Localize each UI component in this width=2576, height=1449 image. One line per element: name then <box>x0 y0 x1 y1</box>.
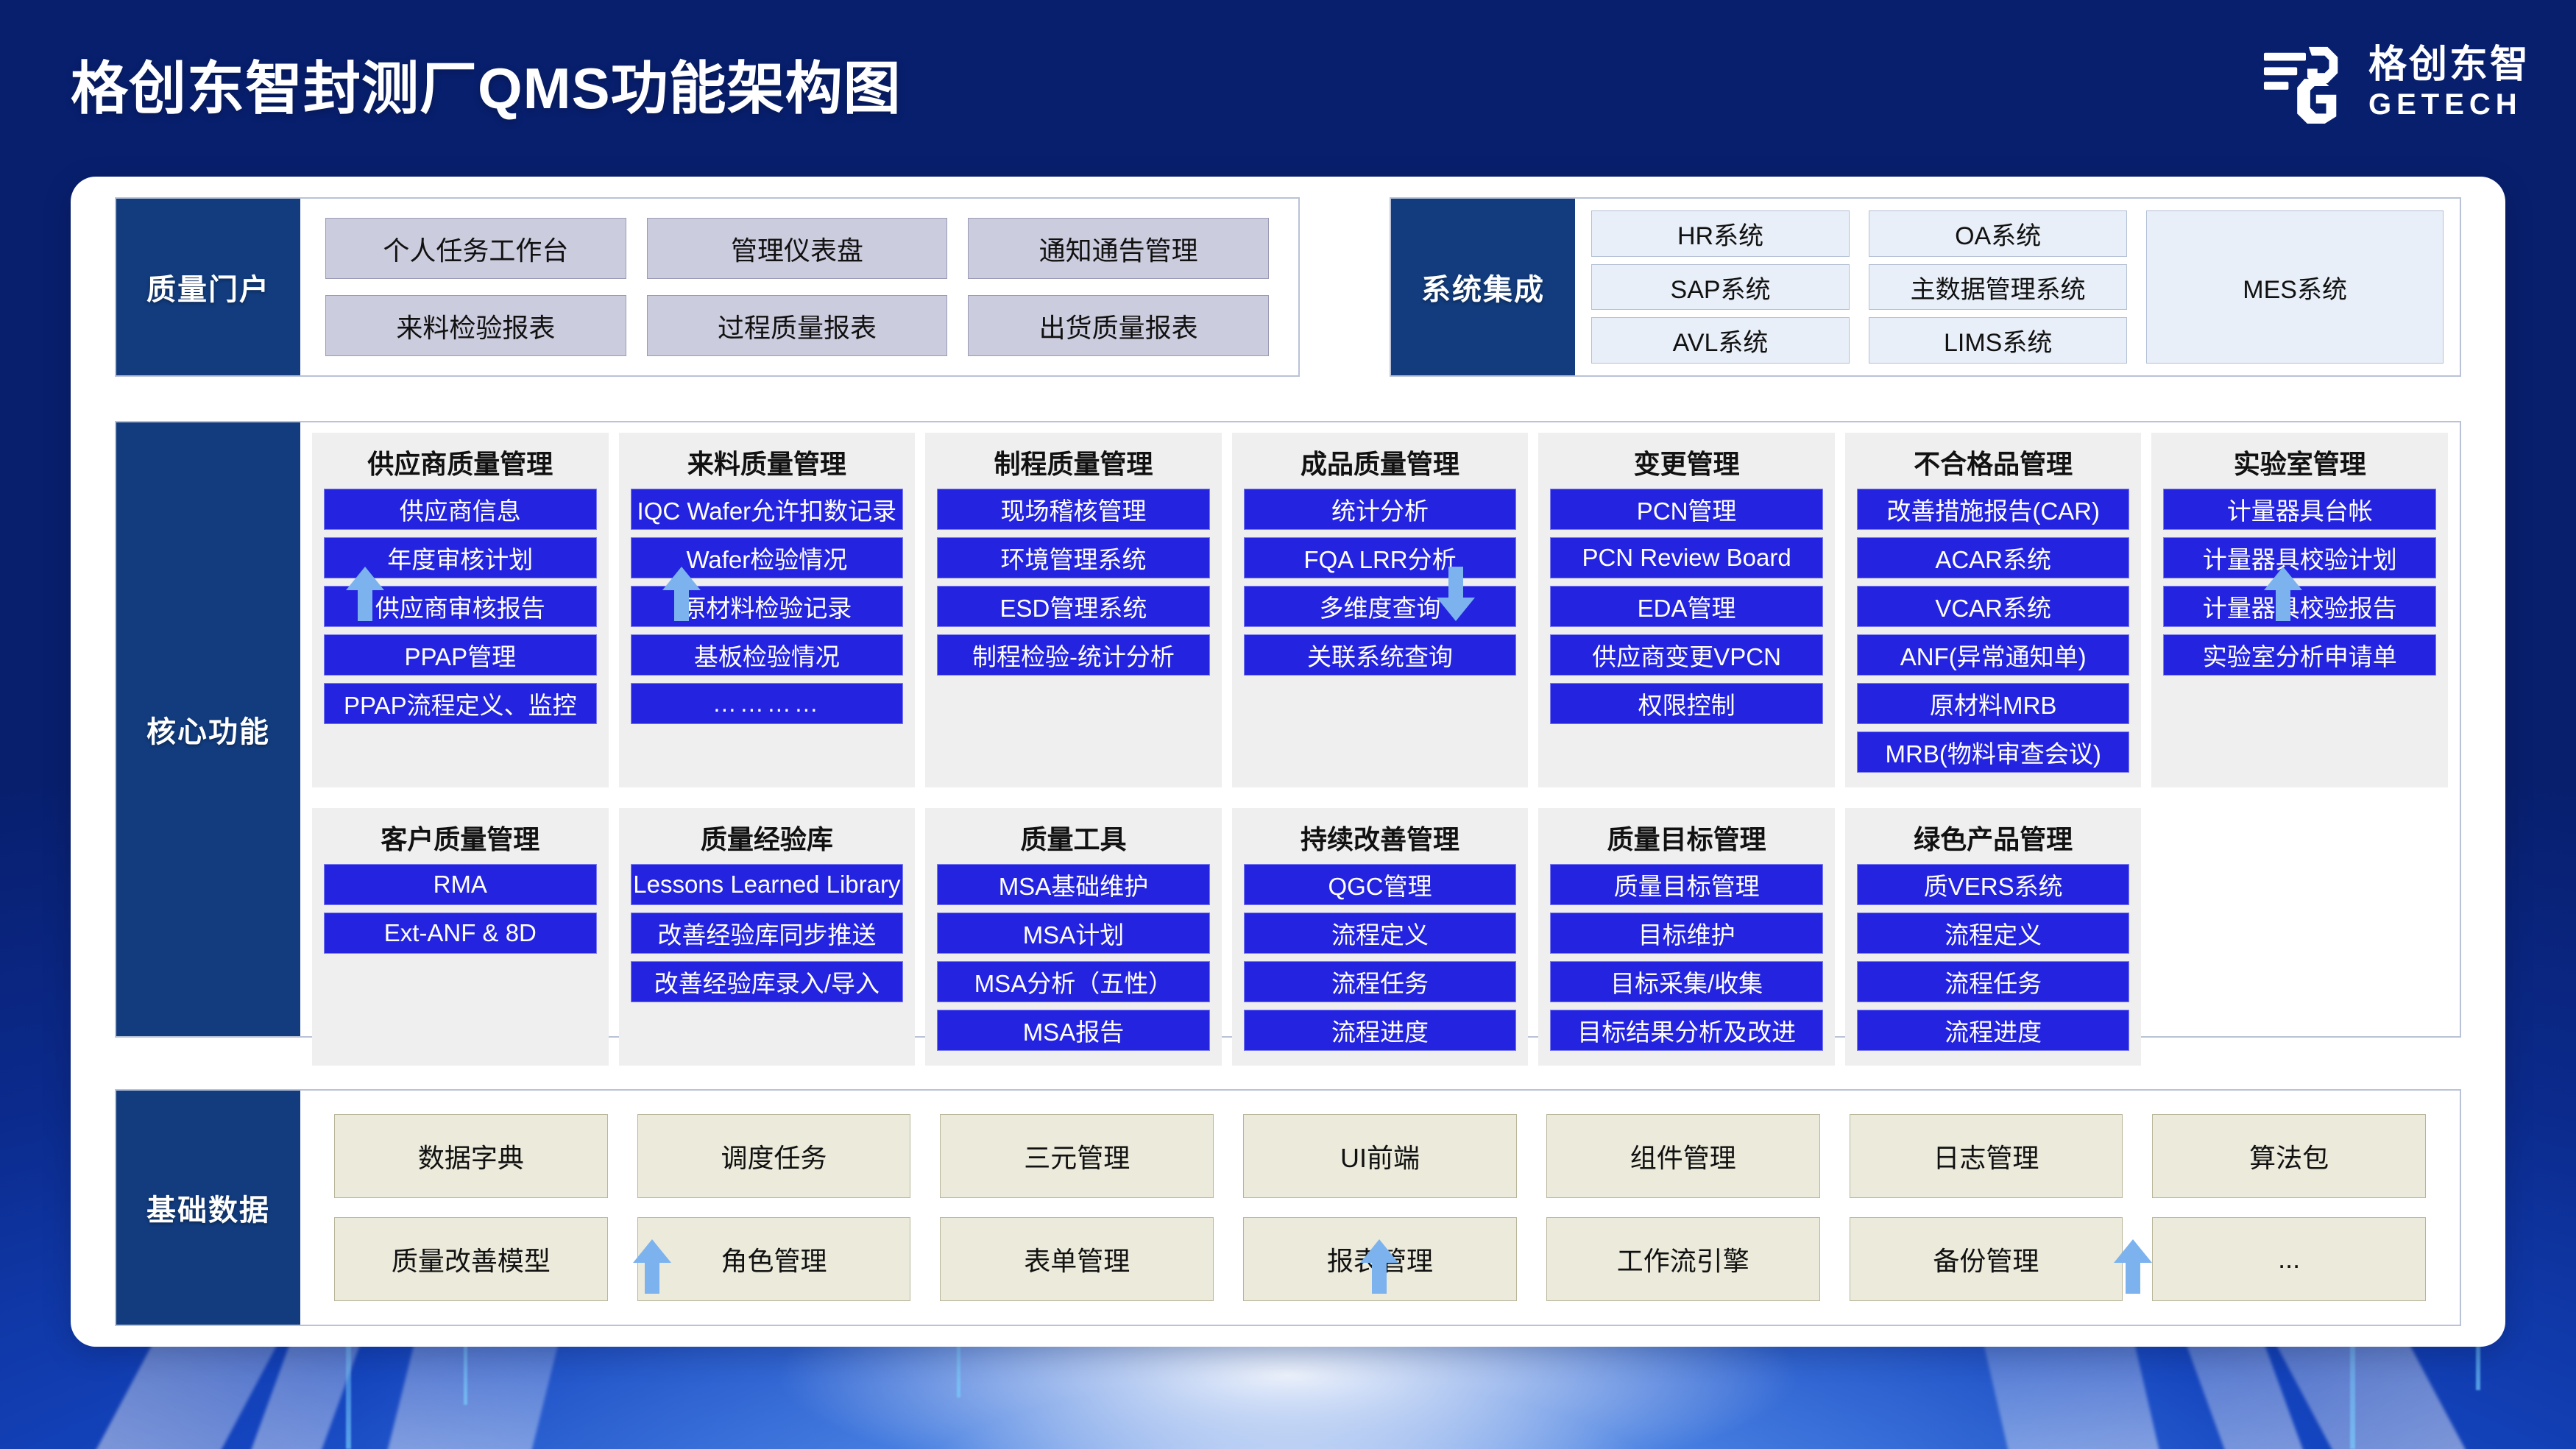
core-item[interactable]: 关联系统查询 <box>1244 634 1517 676</box>
core-item[interactable]: 供应商信息 <box>324 489 597 530</box>
section-label-core-functions: 核心功能 <box>116 422 300 1036</box>
core-item[interactable]: 流程进度 <box>1857 1010 2130 1051</box>
core-column-title: 变更管理 <box>1550 443 1823 481</box>
core-column-spacer <box>2151 808 2448 1066</box>
sys-chip[interactable]: LIMS系统 <box>1869 317 2127 364</box>
core-column: 变更管理PCN管理PCN Review BoardEDA管理供应商变更VPCN权… <box>1538 433 1835 787</box>
core-functions-row-2: 客户质量管理RMAExt-ANF & 8D质量经验库Lessons Learne… <box>312 808 2448 1066</box>
arrow-base-2-up-icon <box>1359 1238 1400 1295</box>
system-integration-column-mes: MES系统 <box>2146 210 2444 364</box>
core-item[interactable]: 质VERS系统 <box>1857 864 2130 905</box>
core-column-title: 来料质量管理 <box>631 443 904 481</box>
core-column-title: 供应商质量管理 <box>324 443 597 481</box>
portal-chip[interactable]: 个人任务工作台 <box>325 218 626 279</box>
section-label-system-integration: 系统集成 <box>1391 199 1575 375</box>
core-item[interactable]: 实验室分析申请单 <box>2163 634 2436 676</box>
core-column-title: 客户质量管理 <box>324 818 597 857</box>
base-data-chip[interactable]: 数据字典 <box>334 1114 608 1198</box>
quality-portal-grid: 个人任务工作台管理仪表盘通知通告管理来料检验报表过程质量报表出货质量报表 <box>300 199 1298 375</box>
core-column-title: 成品质量管理 <box>1244 443 1517 481</box>
core-item[interactable]: 流程定义 <box>1857 913 2130 954</box>
core-item[interactable]: VCAR系统 <box>1857 586 2130 627</box>
arrow-sys-down-icon <box>1435 565 1476 623</box>
base-data-chip[interactable]: 组件管理 <box>1546 1114 1820 1198</box>
core-column: 质量经验库Lessons Learned Library改善经验库同步推送改善经… <box>619 808 916 1066</box>
section-core-functions: 核心功能 供应商质量管理供应商信息年度审核计划供应商审核报告PPAP管理PPAP… <box>115 421 2461 1038</box>
core-item[interactable]: MSA报告 <box>937 1010 1210 1051</box>
core-item[interactable]: 供应商变更VPCN <box>1550 634 1823 676</box>
section-base-data: 基础数据 数据字典调度任务三元管理UI前端组件管理日志管理算法包质量改善模型角色… <box>115 1089 2461 1326</box>
architecture-card: 质量门户 个人任务工作台管理仪表盘通知通告管理来料检验报表过程质量报表出货质量报… <box>71 177 2505 1347</box>
arrow-portal-left-up-icon <box>344 565 386 623</box>
core-item[interactable]: 环境管理系统 <box>937 537 1210 578</box>
brand-logo: 格创东智 GETECH <box>2262 41 2530 124</box>
portal-chip[interactable]: 来料检验报表 <box>325 295 626 356</box>
section-label-quality-portal: 质量门户 <box>116 199 300 375</box>
arrow-mes-up-icon <box>2262 565 2304 623</box>
base-data-chip[interactable]: 三元管理 <box>940 1114 1214 1198</box>
brand-text: 格创东智 GETECH <box>2368 46 2530 119</box>
core-item[interactable]: ESD管理系统 <box>937 586 1210 627</box>
core-item[interactable]: Lessons Learned Library <box>631 864 904 905</box>
core-item[interactable]: PCN管理 <box>1550 489 1823 530</box>
base-data-chip[interactable]: 工作流引擎 <box>1546 1217 1820 1301</box>
sys-chip[interactable]: OA系统 <box>1869 210 2127 257</box>
core-functions-body: 供应商质量管理供应商信息年度审核计划供应商审核报告PPAP管理PPAP流程定义、… <box>300 422 2460 1036</box>
arrow-base-1-up-icon <box>631 1238 673 1295</box>
brand-name-cn: 格创东智 <box>2368 46 2530 84</box>
base-data-chip[interactable]: 备份管理 <box>1850 1217 2123 1301</box>
core-item[interactable]: 计量器具台帐 <box>2163 489 2436 530</box>
sys-chip-mes[interactable]: MES系统 <box>2146 210 2444 364</box>
core-item[interactable]: 原材料MRB <box>1857 683 2130 724</box>
core-column: 客户质量管理RMAExt-ANF & 8D <box>312 808 609 1066</box>
system-integration-body: HR系统SAP系统AVL系统 OA系统主数据管理系统LIMS系统 MES系统 <box>1575 199 2460 375</box>
core-item[interactable]: 质量目标管理 <box>1550 864 1823 905</box>
core-column: 持续改善管理QGC管理流程定义流程任务流程进度 <box>1232 808 1529 1066</box>
system-integration-column-1: HR系统SAP系统AVL系统 <box>1591 210 1850 364</box>
portal-chip[interactable]: 过程质量报表 <box>647 295 948 356</box>
core-item[interactable]: ACAR系统 <box>1857 537 2130 578</box>
core-item[interactable]: 改善经验库同步推送 <box>631 913 904 954</box>
core-item[interactable]: IQC Wafer允许扣数记录 <box>631 489 904 530</box>
core-column: 绿色产品管理质VERS系统流程定义流程任务流程进度 <box>1845 808 2142 1066</box>
core-column-title: 持续改善管理 <box>1244 818 1517 857</box>
core-item[interactable]: RMA <box>324 864 597 905</box>
core-item[interactable]: 目标结果分析及改进 <box>1550 1010 1823 1051</box>
core-item[interactable]: ANF(异常通知单) <box>1857 634 2130 676</box>
core-item[interactable]: 目标维护 <box>1550 913 1823 954</box>
core-column: 成品质量管理统计分析FQA LRR分析多维度查询关联系统查询 <box>1232 433 1529 787</box>
core-column-title: 质量目标管理 <box>1550 818 1823 857</box>
core-item[interactable]: 统计分析 <box>1244 489 1517 530</box>
section-system-integration: 系统集成 HR系统SAP系统AVL系统 OA系统主数据管理系统LIMS系统 ME… <box>1390 197 2461 377</box>
core-item[interactable]: EDA管理 <box>1550 586 1823 627</box>
core-column-title: 不合格品管理 <box>1857 443 2130 481</box>
portal-chip[interactable]: 通知通告管理 <box>968 218 1269 279</box>
core-item[interactable]: 现场稽核管理 <box>937 489 1210 530</box>
base-data-chip[interactable]: UI前端 <box>1243 1114 1517 1198</box>
base-data-chip[interactable]: ... <box>2152 1217 2426 1301</box>
quality-portal-body: 个人任务工作台管理仪表盘通知通告管理来料检验报表过程质量报表出货质量报表 <box>300 199 1298 375</box>
arrow-portal-right-up-icon <box>661 565 702 623</box>
core-column-title: 制程质量管理 <box>937 443 1210 481</box>
core-column: 质量工具MSA基础维护MSA计划MSA分析（五性）MSA报告 <box>925 808 1222 1066</box>
base-data-chip[interactable]: 表单管理 <box>940 1217 1214 1301</box>
core-item[interactable]: 制程检验-统计分析 <box>937 634 1210 676</box>
core-item[interactable]: 流程定义 <box>1244 913 1517 954</box>
base-data-chip[interactable]: 调度任务 <box>637 1114 911 1198</box>
core-item[interactable]: PPAP流程定义、监控 <box>324 683 597 724</box>
core-item[interactable]: 流程进度 <box>1244 1010 1517 1051</box>
core-item[interactable]: 改善措施报告(CAR) <box>1857 489 2130 530</box>
core-item[interactable]: 改善经验库录入/导入 <box>631 961 904 1002</box>
core-item[interactable]: 流程任务 <box>1857 961 2130 1002</box>
section-label-base-data: 基础数据 <box>116 1091 300 1325</box>
sys-chip[interactable]: SAP系统 <box>1591 264 1850 311</box>
base-data-chip[interactable]: 质量改善模型 <box>334 1217 608 1301</box>
section-quality-portal: 质量门户 个人任务工作台管理仪表盘通知通告管理来料检验报表过程质量报表出货质量报… <box>115 197 1300 377</box>
base-data-chip[interactable]: 角色管理 <box>637 1217 911 1301</box>
core-column: 制程质量管理现场稽核管理环境管理系统ESD管理系统制程检验-统计分析 <box>925 433 1222 787</box>
portal-chip[interactable]: 管理仪表盘 <box>647 218 948 279</box>
page-header: 格创东智封测厂QMS功能架构图 格创东智 GETECH <box>0 0 2576 177</box>
core-item[interactable]: QGC管理 <box>1244 864 1517 905</box>
sys-chip[interactable]: 主数据管理系统 <box>1869 264 2127 311</box>
core-column: 不合格品管理改善措施报告(CAR)ACAR系统VCAR系统ANF(异常通知单)原… <box>1845 433 2142 787</box>
core-item[interactable]: 目标采集/收集 <box>1550 961 1823 1002</box>
core-item[interactable]: MSA分析（五性） <box>937 961 1210 1002</box>
core-column-title: 质量经验库 <box>631 818 904 857</box>
core-column-title: 绿色产品管理 <box>1857 818 2130 857</box>
core-column: 质量目标管理质量目标管理目标维护目标采集/收集目标结果分析及改进 <box>1538 808 1835 1066</box>
core-functions-row-1: 供应商质量管理供应商信息年度审核计划供应商审核报告PPAP管理PPAP流程定义、… <box>312 433 2448 787</box>
system-integration-column-2: OA系统主数据管理系统LIMS系统 <box>1869 210 2127 364</box>
brand-name-en: GETECH <box>2368 90 2530 119</box>
page-title: 格创东智封测厂QMS功能架构图 <box>71 43 902 125</box>
sys-chip[interactable]: AVL系统 <box>1591 317 1850 364</box>
core-item[interactable]: 权限控制 <box>1550 683 1823 724</box>
getech-hex-g-logo-icon <box>2262 41 2349 124</box>
core-item[interactable]: ………… <box>631 683 904 724</box>
base-data-chip[interactable]: 算法包 <box>2152 1114 2426 1198</box>
portal-chip[interactable]: 出货质量报表 <box>968 295 1269 356</box>
core-item[interactable]: PCN Review Board <box>1550 537 1823 578</box>
core-item[interactable]: MRB(物料审查会议) <box>1857 731 2130 773</box>
core-item[interactable]: MSA计划 <box>937 913 1210 954</box>
core-item[interactable]: PPAP管理 <box>324 634 597 676</box>
core-item[interactable]: 基板检验情况 <box>631 634 904 676</box>
core-column-title: 质量工具 <box>937 818 1210 857</box>
core-item[interactable]: 流程任务 <box>1244 961 1517 1002</box>
core-item[interactable]: MSA基础维护 <box>937 864 1210 905</box>
core-column-title: 实验室管理 <box>2163 443 2436 481</box>
base-data-chip[interactable]: 日志管理 <box>1850 1114 2123 1198</box>
core-item[interactable]: Ext-ANF & 8D <box>324 913 597 954</box>
arrow-base-3-up-icon <box>2112 1238 2154 1295</box>
sys-chip[interactable]: HR系统 <box>1591 210 1850 257</box>
